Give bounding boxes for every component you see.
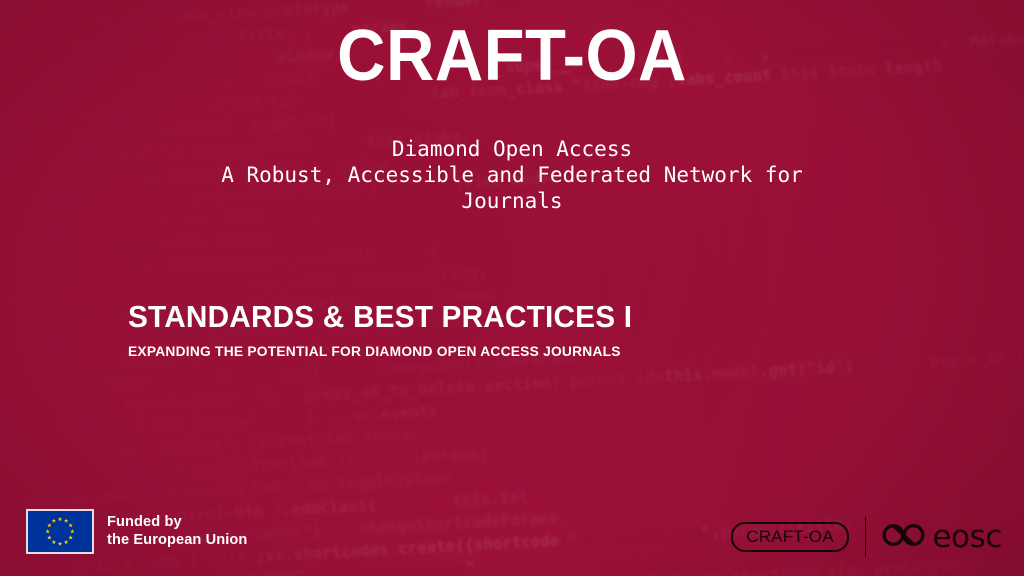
eu-flag-icon: [26, 509, 94, 554]
project-subtitle: Diamond Open Access A Robust, Accessible…: [132, 136, 892, 214]
eu-funding-line-1: Funded by: [107, 514, 247, 532]
logo-divider: [865, 517, 867, 557]
craft-oa-logo-badge: CRAFT-OA: [731, 522, 849, 552]
subtitle-line-2: A Robust, Accessible and Federated Netwo…: [132, 162, 892, 188]
eu-funding-line-2: the European Union: [107, 532, 247, 550]
eosc-infinity-icon: [882, 520, 928, 555]
eosc-wordmark: eosc: [932, 522, 1002, 553]
eu-funding-logo: Funded by the European Union: [26, 509, 247, 554]
eosc-logo: eosc: [882, 520, 1002, 555]
session-subtitle: EXPANDING THE POTENTIAL FOR DIAMOND OPEN…: [128, 344, 904, 360]
subtitle-line-3: Journals: [132, 188, 892, 214]
subtitle-line-1: Diamond Open Access: [132, 136, 892, 162]
project-title: CRAFT-OA: [36, 18, 988, 96]
partner-logos: CRAFT-OA eosc: [731, 516, 1002, 558]
session-block: STANDARDS & BEST PRACTICES I EXPANDING T…: [128, 300, 928, 360]
session-title: STANDARDS & BEST PRACTICES I: [128, 300, 896, 335]
slide-content: CRAFT-OA Diamond Open Access A Robust, A…: [0, 0, 1024, 576]
eu-funding-text: Funded by the European Union: [107, 514, 247, 549]
presentation-slide: (params){this.$content.find(".vc_col-sm-…: [0, 0, 1024, 576]
